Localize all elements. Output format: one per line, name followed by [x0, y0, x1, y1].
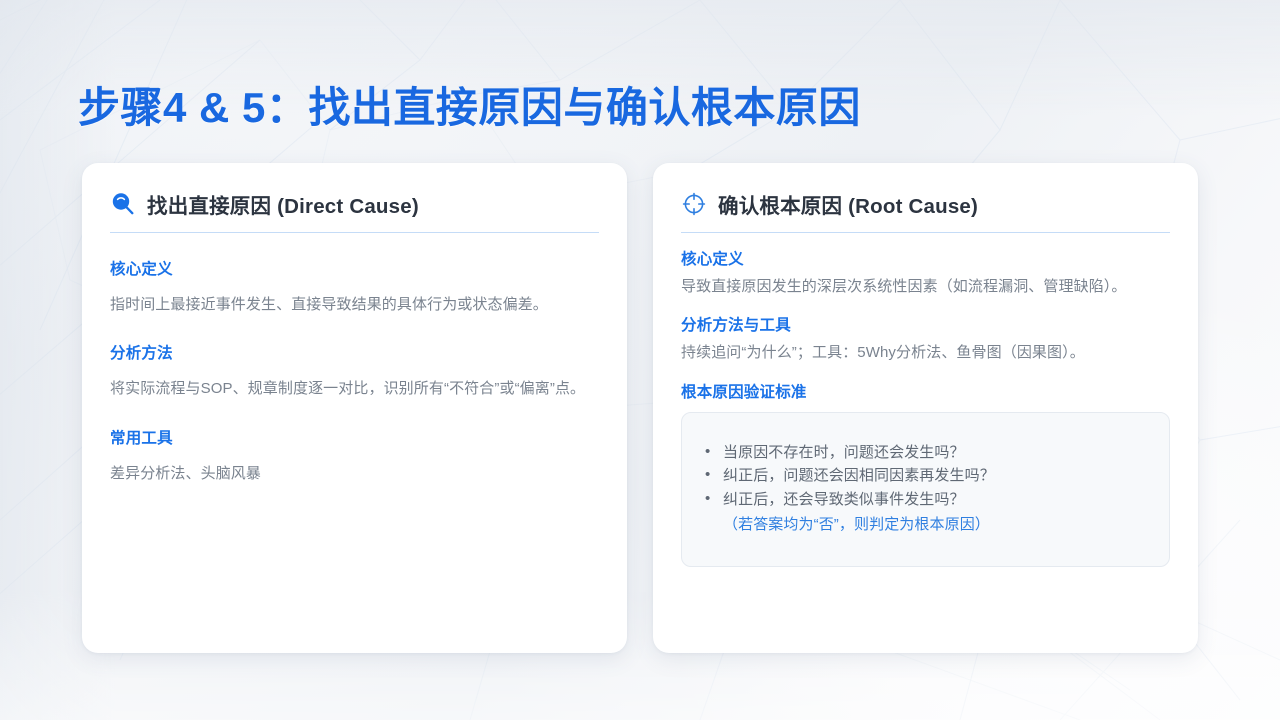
section-body-core-definition: 指时间上最接近事件发生、直接导致结果的具体行为或状态偏差。 [110, 293, 599, 317]
verification-criteria-note: （若答案均为“否”，则判定为根本原因） [723, 513, 1147, 537]
verification-criteria-list: 当原因不存在时，问题还会发生吗？ 纠正后，问题还会因相同因素再发生吗？ 纠正后，… [702, 441, 1147, 512]
section-body-common-tools: 差异分析法、头脑风暴 [110, 462, 599, 486]
section-title-methods-and-tools: 分析方法与工具 [681, 313, 1170, 335]
page-title: 步骤4 & 5：找出直接原因与确认根本原因 [78, 74, 861, 135]
section-title-core-definition-root: 核心定义 [681, 247, 1170, 269]
section-body-analysis-method: 将实际流程与SOP、规章制度逐一对比，识别所有“不符合”或“偏离”点。 [110, 377, 599, 401]
list-item: 纠正后，问题还会因相同因素再发生吗？ [702, 464, 1147, 488]
card-direct-cause-header: 找出直接原因 (Direct Cause) [110, 189, 599, 233]
section-title-common-tools: 常用工具 [110, 426, 599, 448]
section-title-verification-criteria: 根本原因验证标准 [681, 380, 1170, 402]
section-title-analysis-method: 分析方法 [110, 341, 599, 363]
magnifier-icon [110, 191, 136, 217]
verification-criteria-box: 当原因不存在时，问题还会发生吗？ 纠正后，问题还会因相同因素再发生吗？ 纠正后，… [681, 412, 1170, 568]
crosshair-target-icon [681, 191, 707, 217]
list-item: 当原因不存在时，问题还会发生吗？ [702, 441, 1147, 465]
card-root-cause: 确认根本原因 (Root Cause) 核心定义 导致直接原因发生的深层次系统性… [653, 163, 1198, 653]
card-root-cause-header: 确认根本原因 (Root Cause) [681, 189, 1170, 233]
card-direct-cause: 找出直接原因 (Direct Cause) 核心定义 指时间上最接近事件发生、直… [82, 163, 627, 653]
section-body-methods-and-tools: 持续追问“为什么”；工具：5Why分析法、鱼骨图（因果图）。 [681, 341, 1170, 365]
card-direct-cause-title: 找出直接原因 (Direct Cause) [147, 189, 419, 219]
section-title-core-definition: 核心定义 [110, 257, 599, 279]
section-body-core-definition-root: 导致直接原因发生的深层次系统性因素（如流程漏洞、管理缺陷）。 [681, 275, 1170, 299]
list-item: 纠正后，还会导致类似事件发生吗？ [702, 488, 1147, 512]
card-root-cause-title: 确认根本原因 (Root Cause) [718, 189, 978, 219]
cards-container: 找出直接原因 (Direct Cause) 核心定义 指时间上最接近事件发生、直… [82, 163, 1198, 653]
